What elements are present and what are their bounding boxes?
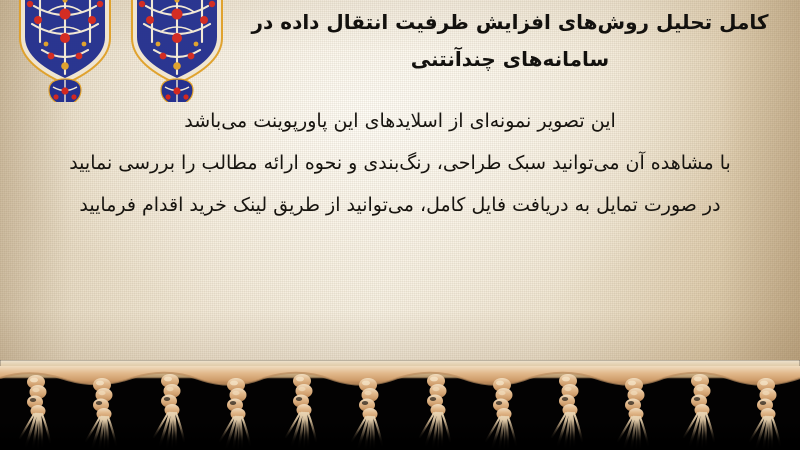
body-line-3: در صورت تمایل به دریافت فایل کامل، می‌تو…: [0, 184, 800, 226]
tassel: [286, 374, 316, 449]
carpet-fringe-tassels: [0, 366, 800, 450]
slide-canvas: کامل تحلیل روش‌های افزایش ظرفیت انتقال د…: [0, 0, 800, 450]
slide-body: این تصویر نمونه‌ای از اسلایدهای این پاور…: [0, 100, 800, 226]
body-line-1: این تصویر نمونه‌ای از اسلایدهای این پاور…: [0, 100, 800, 142]
tassel: [486, 378, 516, 450]
tassel: [220, 378, 250, 450]
tassel: [684, 374, 714, 449]
tassel: [20, 375, 50, 450]
tassel: [618, 378, 648, 450]
title-line-2: سامانه‌های چندآنتنی: [230, 41, 790, 78]
tassel: [420, 374, 450, 449]
carpet-fringe-band: [0, 360, 800, 450]
body-line-2: با مشاهده آن می‌توانید سبک طراحی، رنگ‌بن…: [0, 142, 800, 184]
tassel: [86, 378, 116, 450]
tassel: [750, 378, 780, 450]
tassel: [552, 374, 582, 449]
tassel: [154, 374, 184, 449]
tassel: [352, 378, 382, 450]
slide-title: کامل تحلیل روش‌های افزایش ظرفیت انتقال د…: [230, 4, 790, 78]
title-line-1: کامل تحلیل روش‌های افزایش ظرفیت انتقال د…: [230, 4, 790, 41]
